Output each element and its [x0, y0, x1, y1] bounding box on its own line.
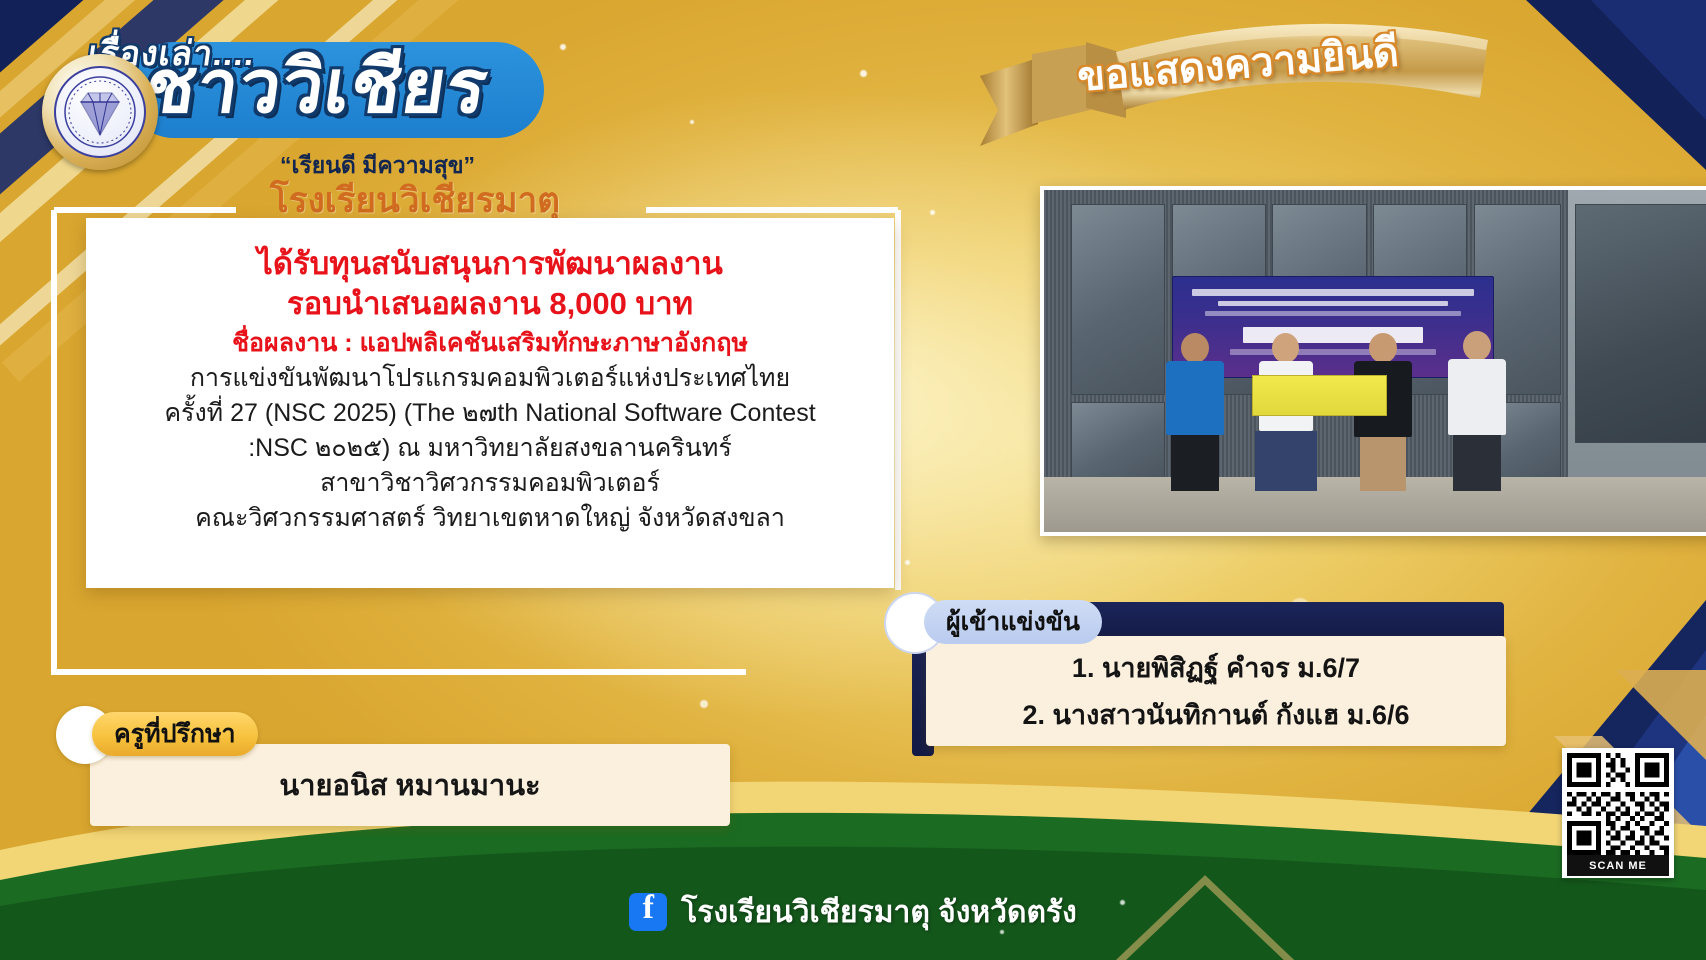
- sparkle: [930, 210, 935, 215]
- diamond-icon: [63, 75, 137, 149]
- headline-line-3: ชื่อผลงาน : แอปพลิเคชันเสริมทักษะภาษาอัง…: [112, 327, 868, 360]
- headline-line-2: รอบนำเสนอผลงาน 8,000 บาท: [112, 284, 868, 324]
- body-line-1: การแข่งขันพัฒนาโปรแกรมคอมพิวเตอร์แห่งประ…: [112, 362, 868, 394]
- photo-person: [1152, 333, 1239, 491]
- body-line-2: ครั้งที่ 27 (NSC 2025) (The ๒๗th Nationa…: [112, 397, 868, 429]
- teacher-card: ครูที่ปรึกษา นายอนิส หมานมานะ: [56, 700, 756, 840]
- headline-line-1: ได้รับทุนสนับสนุนการพัฒนาผลงาน: [112, 244, 868, 284]
- photo-window: [1575, 204, 1706, 443]
- qr-code-icon: [1567, 753, 1669, 855]
- sparkle: [860, 70, 867, 77]
- announcement-card: ได้รับทุนสนับสนุนการพัฒนาผลงาน รอบนำเสนอ…: [86, 218, 894, 588]
- school-crest-icon: [54, 66, 146, 158]
- students-card: ผู้เข้าแข่งขัน 1. นายพิสิฏฐ์ คำจร ม.6/7 …: [884, 588, 1544, 764]
- facebook-icon[interactable]: [629, 893, 667, 931]
- congratulations-ribbon: ขอแสดงความยินดี: [940, 6, 1500, 166]
- body-line-3: :NSC ๒๐๒๕) ณ มหาวิทยาลัยสงขลานครินทร์: [112, 432, 868, 464]
- footer-school-name: โรงเรียนวิเชียรมาตุ จังหวัดตรัง: [681, 889, 1077, 936]
- body-line-4: สาขาวิชาวิศวกรรมคอมพิวเตอร์: [112, 467, 868, 499]
- students-list: 1. นายพิสิฏฐ์ คำจร ม.6/7 2. นางสาวนันทิก…: [926, 636, 1506, 746]
- event-photo: [1040, 186, 1706, 536]
- school-logo: [42, 54, 158, 170]
- page-title: ชาววิเชียร: [141, 50, 493, 124]
- footer-bar: โรงเรียนวิเชียรมาตุ จังหวัดตรัง: [0, 864, 1706, 960]
- body-line-5: คณะวิศวกรรมศาสตร์ วิทยาเขตหาดใหญ่ จังหวั…: [112, 502, 868, 534]
- list-item: 2. นางสาวนันทิกานต์ กังแฮ ม.6/6: [1022, 693, 1409, 736]
- poster-canvas: เรื่องเล่า.... ชาววิเชียร “เรียนดี มี: [0, 0, 1706, 960]
- list-item: 1. นายพิสิฏฐ์ คำจร ม.6/7: [1072, 646, 1360, 689]
- qr-code[interactable]: SCAN ME: [1562, 748, 1674, 878]
- photo-certificate: [1252, 375, 1386, 416]
- photo-person: [1434, 331, 1521, 491]
- teacher-name: นายอนิส หมานมานะ: [90, 744, 730, 826]
